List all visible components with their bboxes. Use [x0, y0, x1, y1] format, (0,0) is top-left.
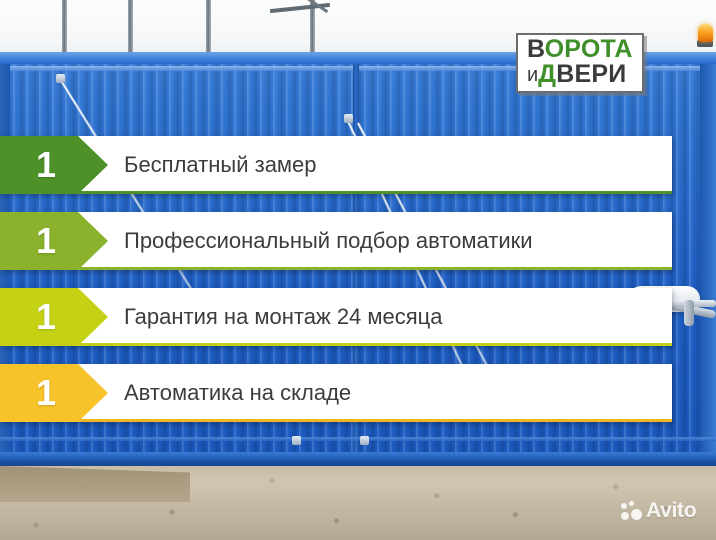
benefit-row: 1 Бесплатный замер [0, 136, 672, 194]
gate-center-seam [353, 64, 359, 498]
benefit-row: 1 Автоматика на складе [0, 364, 672, 422]
benefit-row: 1 Гарантия на монтаж 24 месяца [0, 288, 672, 346]
logo-word-dveri-wrap: ДВЕРИ [538, 63, 626, 87]
cable-anchor [56, 74, 65, 83]
benefit-underline [0, 191, 672, 194]
benefit-label: Автоматика на складе [124, 364, 351, 422]
benefit-label: Профессиональный подбор автоматики [124, 212, 533, 270]
logo-connector-i: и [527, 64, 538, 87]
logo-line-1: ВОРОТА [527, 38, 633, 62]
fence-post [128, 0, 133, 52]
benefit-label: Бесплатный замер [124, 136, 317, 194]
cable-anchor [344, 114, 353, 123]
fence-post [206, 0, 211, 54]
benefit-number: 1 [36, 147, 56, 183]
avito-dots-icon [621, 501, 643, 521]
logo-word-dveri: ВЕРИ [556, 60, 626, 88]
gate-left-edge [0, 64, 10, 498]
cable-anchor [292, 436, 301, 445]
avito-wordmark: Avito [646, 499, 696, 523]
gate-automation-rod [676, 300, 716, 307]
gate-right-edge [700, 64, 716, 498]
fence-post [62, 0, 67, 56]
logo-line-2: и ДВЕРИ [527, 62, 633, 87]
beacon-lamp-icon [698, 24, 713, 42]
benefit-label: Гарантия на монтаж 24 месяца [124, 288, 443, 346]
benefit-number: 1 [36, 223, 56, 259]
gate-bottom-rail [0, 452, 716, 466]
benefit-number: 1 [36, 299, 56, 335]
image-canvas: ВОРОТА и ДВЕРИ 1 Бесплатный замер 1 Проф… [0, 0, 716, 540]
company-logo: ВОРОТА и ДВЕРИ [516, 33, 644, 93]
gate-automation-hinge [684, 300, 694, 326]
cable-anchor [360, 436, 369, 445]
gate-inner-frame-bottom [0, 437, 716, 441]
avito-watermark: Avito [621, 499, 696, 523]
benefit-row: 1 Профессиональный подбор автоматики [0, 212, 672, 270]
benefit-number: 1 [36, 375, 56, 411]
logo-letter-d: Д [538, 60, 556, 88]
